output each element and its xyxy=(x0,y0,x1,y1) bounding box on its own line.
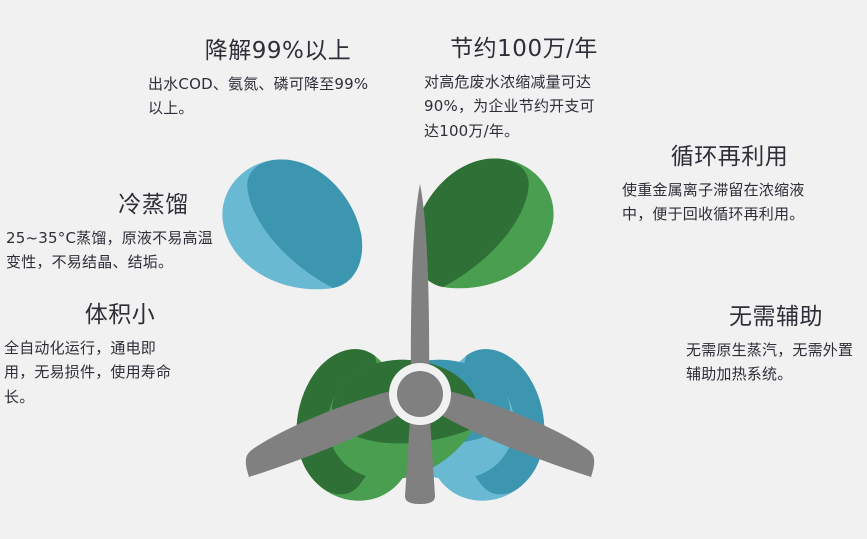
feature-no-aux-title: 无需辅助 xyxy=(686,304,866,332)
feature-no-aux-body: 无需原生蒸汽，无需外置辅助加热系统。 xyxy=(686,338,864,388)
infographic-canvas: 降解99%以上 出水COD、氨氮、磷可降至99%以上。 节约100万/年 对高危… xyxy=(0,0,867,539)
feature-recycle-body: 使重金属离子滞留在浓缩液中，便于回收循环再利用。 xyxy=(614,178,812,228)
feature-save-title: 节约100万/年 xyxy=(424,36,624,64)
feature-cold-distill-title: 冷蒸馏 xyxy=(6,192,231,220)
feature-save-body: 对高危废水浓缩减量可达90%，为企业节约开支可达100万/年。 xyxy=(424,70,604,144)
feature-save: 节约100万/年 对高危废水浓缩减量可达90%，为企业节约开支可达100万/年。 xyxy=(424,36,624,144)
feature-cold-distill: 冷蒸馏 25~35°C蒸馏，原液不易高温变性，不易结晶、结垢。 xyxy=(6,192,231,275)
turbine-hub xyxy=(397,371,443,417)
feature-degrade-title: 降解99%以上 xyxy=(140,38,390,66)
feature-no-aux: 无需辅助 无需原生蒸汽，无需外置辅助加热系统。 xyxy=(686,304,866,387)
feature-degrade-body: 出水COD、氨氮、磷可降至99%以上。 xyxy=(140,72,382,122)
center-graphic xyxy=(190,128,650,513)
wind-turbine-flower-svg xyxy=(190,128,650,513)
feature-small-volume: 体积小 全自动化运行，通电即用，无易损件，使用寿命长。 xyxy=(4,302,194,410)
feature-cold-distill-body: 25~35°C蒸馏，原液不易高温变性，不易结晶、结垢。 xyxy=(6,226,228,276)
feature-recycle: 循环再利用 使重金属离子滞留在浓缩液中，便于回收循环再利用。 xyxy=(614,144,829,227)
feature-recycle-title: 循环再利用 xyxy=(614,144,829,172)
feature-small-volume-body: 全自动化运行，通电即用，无易损件，使用寿命长。 xyxy=(4,336,184,410)
feature-small-volume-title: 体积小 xyxy=(4,302,194,330)
feature-degrade: 降解99%以上 出水COD、氨氮、磷可降至99%以上。 xyxy=(140,38,390,121)
